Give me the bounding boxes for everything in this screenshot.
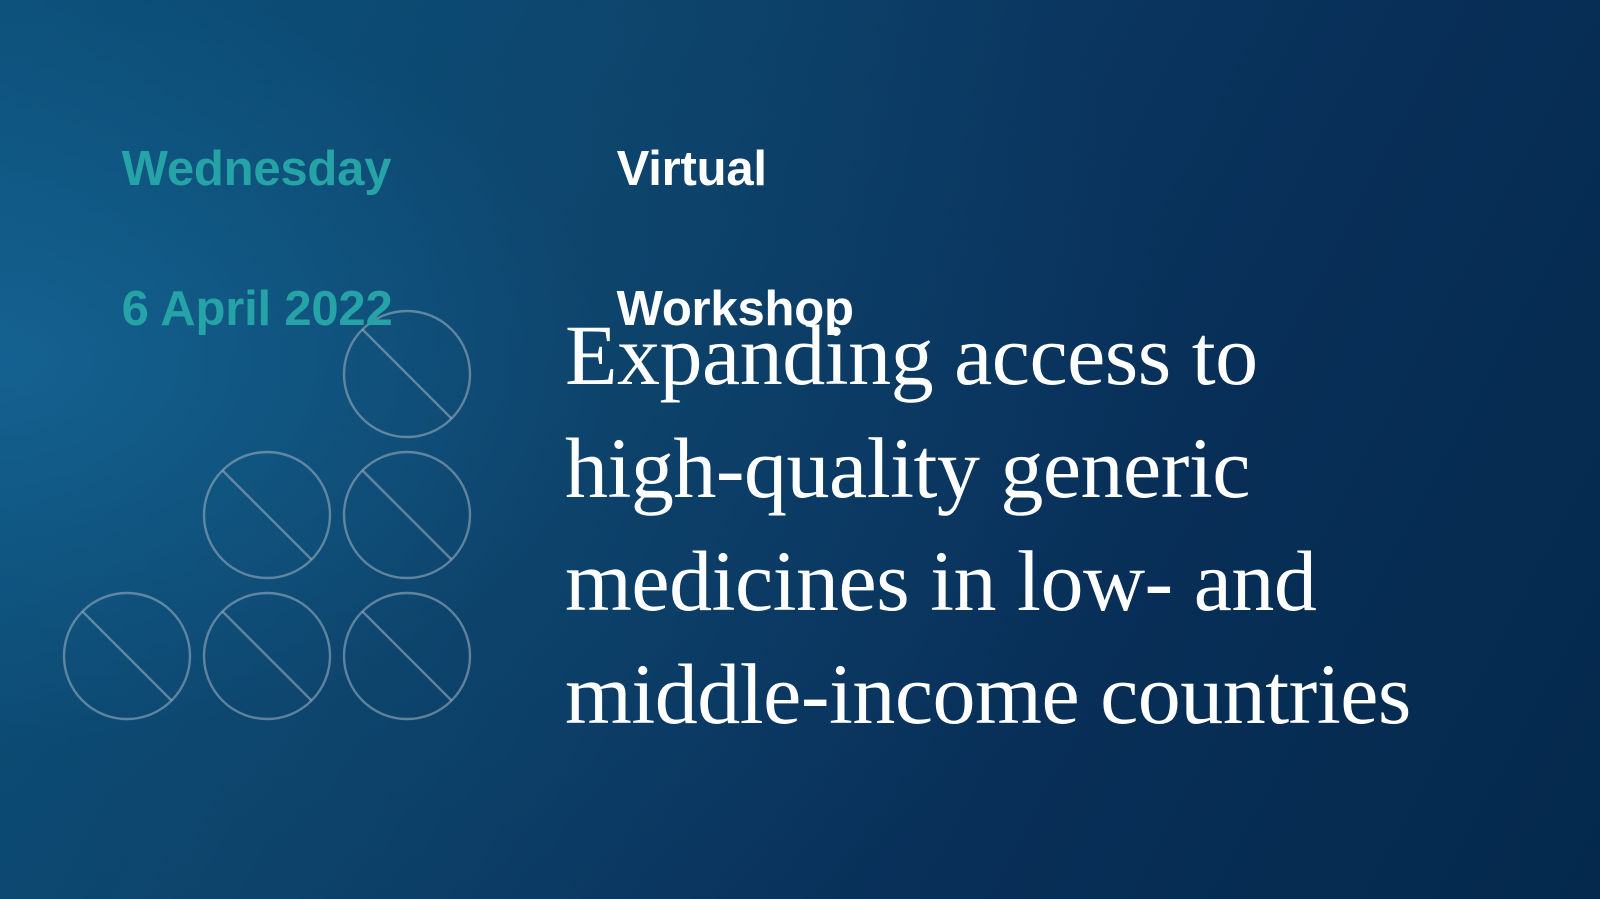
event-date-day: 6 April 2022 — [122, 282, 393, 336]
page-title-line-2: high-quality generic — [565, 412, 1555, 525]
pill-tablet-icon-6 — [344, 593, 470, 719]
pill-tablet-icon-4 — [64, 593, 190, 719]
pill-tablet-icon-2 — [204, 452, 330, 578]
page-title-line-3: medicines in low- and — [565, 525, 1555, 638]
page-title: Expanding access to high-quality generic… — [565, 299, 1555, 751]
event-format-line-1: Virtual — [617, 142, 767, 196]
pill-tablet-icon-5 — [204, 593, 330, 719]
event-date-weekday: Wednesday — [122, 142, 392, 196]
pill-tablet-icon-3 — [344, 452, 470, 578]
workshop-title-slide: Wednesday 6 April 2022 Virtual Workshop … — [0, 0, 1600, 899]
event-date: Wednesday 6 April 2022 — [68, 64, 393, 414]
page-title-line-1: Expanding access to — [565, 299, 1555, 412]
page-title-line-4: middle-income countries — [565, 638, 1555, 751]
